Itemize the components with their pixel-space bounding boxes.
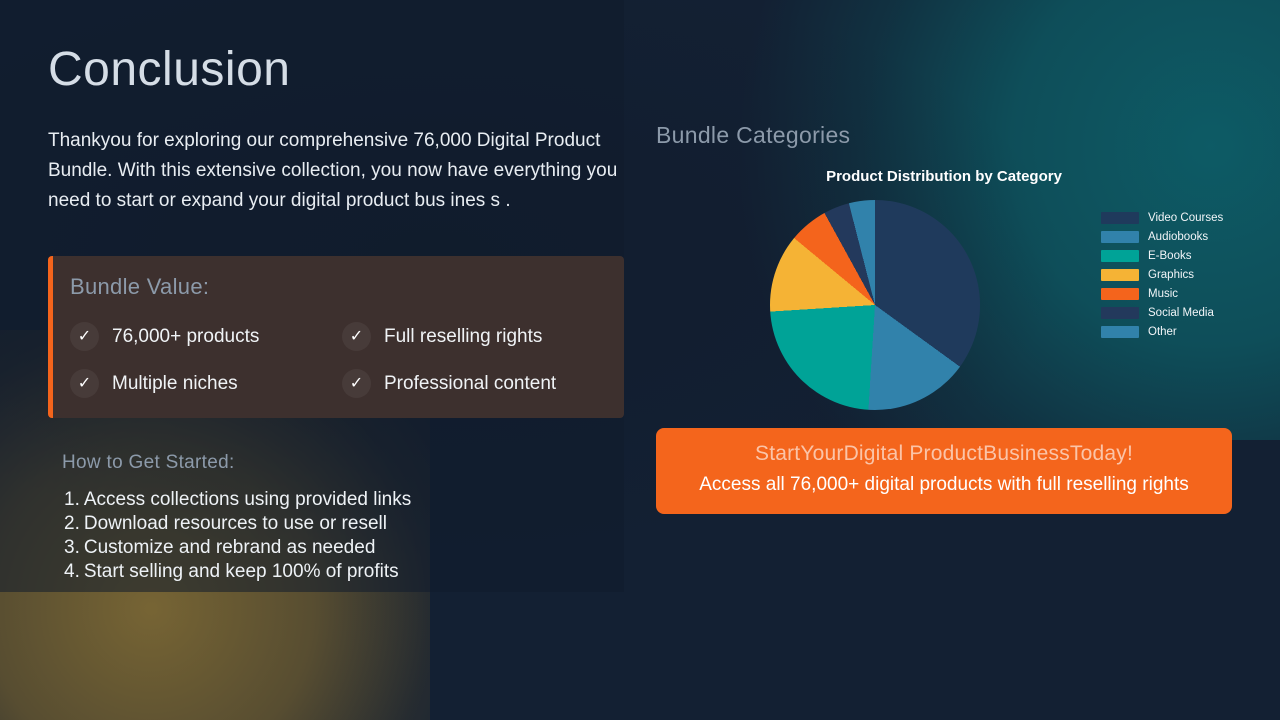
bundle-categories-title: Bundle Categories: [656, 122, 850, 149]
legend-label: Audiobooks: [1148, 231, 1208, 243]
legend-swatch: [1101, 231, 1139, 243]
steps-title: How to Get Started:: [62, 452, 235, 474]
check-icon: ✓: [342, 322, 371, 351]
legend-label: Graphics: [1148, 269, 1194, 281]
page-title: Conclusion: [48, 42, 290, 97]
value-item: ✓ Full reselling rights: [342, 322, 600, 351]
legend-swatch: [1101, 250, 1139, 262]
step-row: 3.Customize and rebrand as needed: [64, 536, 604, 560]
legend-label: Social Media: [1148, 307, 1214, 319]
legend-swatch: [1101, 212, 1139, 224]
step-row: 2.Download resources to use or resell: [64, 512, 604, 536]
step-row: 1.Access collections using provided link…: [64, 488, 604, 512]
pie-shape: [770, 200, 980, 410]
step-number: 3.: [64, 537, 80, 558]
legend-row: Graphics: [1101, 269, 1223, 281]
legend-swatch: [1101, 288, 1139, 300]
step-number: 1.: [64, 489, 80, 510]
legend-row: Audiobooks: [1101, 231, 1223, 243]
value-item: ✓ Multiple niches: [70, 369, 342, 398]
step-text: Customize and rebrand as needed: [84, 537, 376, 558]
cta-subtext: Access all 76,000+ digital products with…: [676, 472, 1212, 498]
check-icon: ✓: [342, 369, 371, 398]
bundle-value-list: ✓ 76,000+ products ✓ Full reselling righ…: [70, 322, 600, 398]
legend-swatch: [1101, 326, 1139, 338]
check-icon: ✓: [70, 369, 99, 398]
step-text: Access collections using provided links: [84, 489, 411, 510]
cta-banner[interactable]: StartYourDigital ProductBusinessToday! A…: [656, 428, 1232, 514]
value-item-label: Multiple niches: [112, 373, 238, 395]
legend-row: E-Books: [1101, 250, 1223, 262]
legend-label: E-Books: [1148, 250, 1191, 262]
pie-chart: [770, 200, 980, 410]
legend-row: Video Courses: [1101, 212, 1223, 224]
chart-title: Product Distribution by Category: [656, 168, 1232, 185]
steps-list: 1.Access collections using provided link…: [64, 488, 604, 584]
value-item: ✓ Professional content: [342, 369, 600, 398]
legend-label: Other: [1148, 326, 1177, 338]
bundle-value-card: Bundle Value: ✓ 76,000+ products ✓ Full …: [48, 256, 624, 418]
legend-swatch: [1101, 307, 1139, 319]
legend-row: Music: [1101, 288, 1223, 300]
legend-row: Social Media: [1101, 307, 1223, 319]
value-item-label: Professional content: [384, 373, 556, 395]
step-text: Download resources to use or resell: [84, 513, 387, 534]
card-accent-bar: [48, 256, 53, 418]
intro-paragraph: Thankyou for exploring our comprehensive…: [48, 126, 623, 216]
legend-swatch: [1101, 269, 1139, 281]
cta-headline: StartYourDigital ProductBusinessToday!: [676, 442, 1212, 466]
pie-chart-block: Product Distribution by Category Video C…: [656, 168, 1232, 418]
value-item-label: Full reselling rights: [384, 326, 542, 348]
legend-row: Other: [1101, 326, 1223, 338]
step-number: 2.: [64, 513, 80, 534]
value-item-label: 76,000+ products: [112, 326, 259, 348]
check-icon: ✓: [70, 322, 99, 351]
slide-canvas: Conclusion Thankyou for exploring our co…: [0, 0, 1280, 720]
step-number: 4.: [64, 561, 80, 582]
chart-legend: Video CoursesAudiobooksE-BooksGraphicsMu…: [1101, 212, 1223, 338]
bundle-value-title: Bundle Value:: [70, 274, 209, 300]
step-text: Start selling and keep 100% of profits: [84, 561, 399, 582]
legend-label: Video Courses: [1148, 212, 1223, 224]
step-row: 4.Start selling and keep 100% of profits: [64, 560, 604, 584]
value-item: ✓ 76,000+ products: [70, 322, 342, 351]
legend-label: Music: [1148, 288, 1178, 300]
